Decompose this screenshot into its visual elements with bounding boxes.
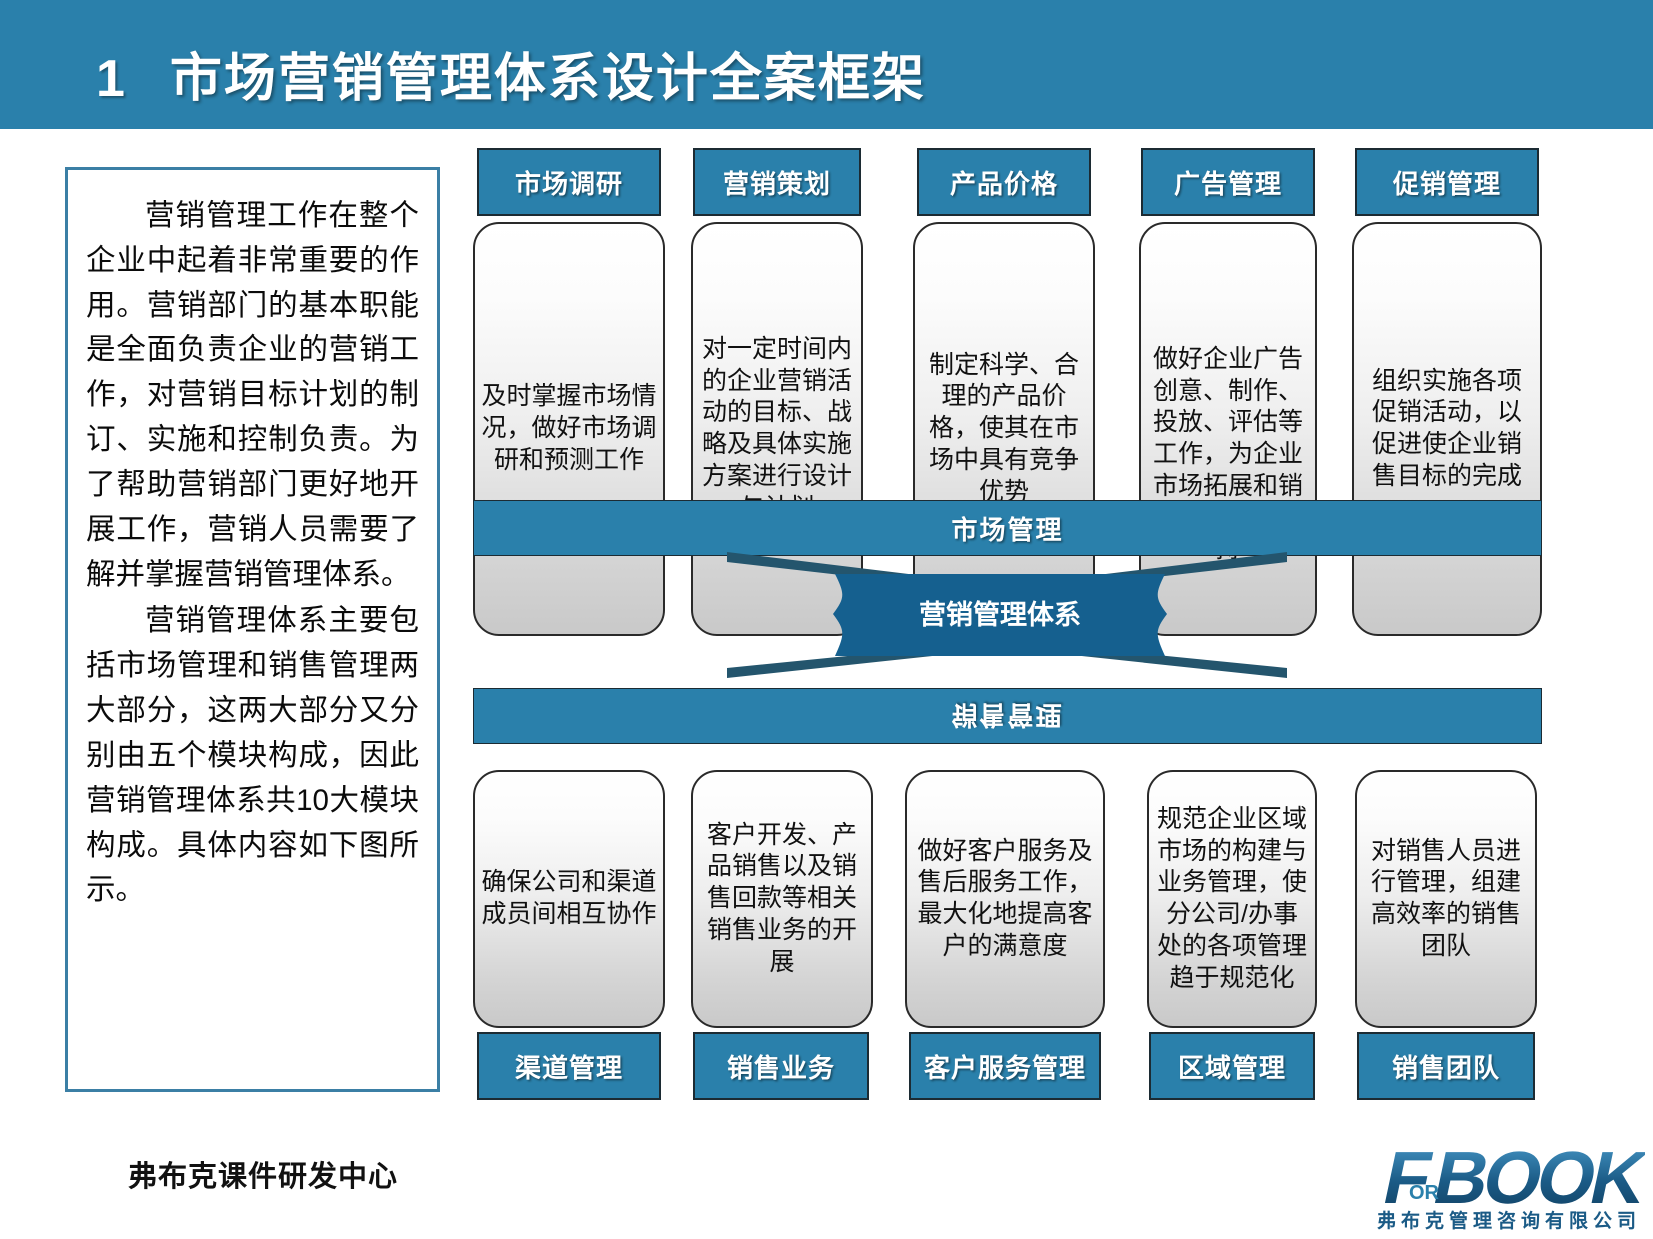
sales-module-card-1[interactable]: 客户开发、产品销售以及销售回款等相关销售业务的开展 bbox=[691, 770, 873, 1028]
market-management-label: 市场管理 bbox=[951, 510, 1063, 547]
intro-text-panel: 营销管理工作在整个企业中起着非常重要的作用。营销部门的基本职能是全面负责企业的营… bbox=[65, 167, 440, 1092]
logo-subtitle: 弗布克管理咨询有限公司 bbox=[1377, 1206, 1641, 1233]
sales-management-label: 销售管理 bbox=[951, 698, 1063, 735]
slide-canvas: 1 市场营销管理体系设计全案框架 营销管理工作在整个企业中起着非常重要的作用。营… bbox=[0, 0, 1653, 1239]
market-module-desc-4: 组织实施各项促销活动，以促进使企业销售目标的完成 bbox=[1354, 366, 1540, 493]
sales-module-desc-0: 确保公司和渠道成员间相互协作 bbox=[475, 867, 663, 931]
sales-module-chip-4[interactable]: 销售团队 bbox=[1357, 1032, 1535, 1100]
section-number: 1 bbox=[96, 49, 126, 109]
market-module-title-1: 营销策划 bbox=[723, 164, 831, 201]
sales-module-title-3: 区域管理 bbox=[1178, 1048, 1286, 1085]
slide-header-band: 1 市场营销管理体系设计全案框架 bbox=[0, 0, 1653, 129]
market-module-chip-1[interactable]: 营销策划 bbox=[693, 148, 861, 216]
market-module-desc-2: 制定科学、合理的产品价格，使其在市场中具有竞争优势 bbox=[915, 350, 1093, 509]
market-module-chip-4[interactable]: 促销管理 bbox=[1355, 148, 1539, 216]
sales-module-desc-4: 对销售人员进行管理，组建高效率的销售团队 bbox=[1357, 836, 1535, 963]
sales-management-band[interactable]: 销售管理 bbox=[473, 688, 1542, 744]
sales-module-chip-0[interactable]: 渠道管理 bbox=[477, 1032, 661, 1100]
footer-credit: 弗布克课件研发中心 bbox=[128, 1153, 398, 1195]
sales-module-card-3[interactable]: 规范企业区域市场的构建与业务管理，使分公司/办事处的各项管理趋于规范化 bbox=[1147, 770, 1317, 1028]
market-module-chip-0[interactable]: 市场调研 bbox=[477, 148, 661, 216]
framework-diagram: 及时掌握市场情况，做好市场调研和预测工作 对一定时间内的企业营销活动的目标、战略… bbox=[465, 148, 1550, 1113]
center-hub-label-text: 营销管理体系 bbox=[919, 600, 1081, 630]
market-module-title-2: 产品价格 bbox=[950, 164, 1058, 201]
sales-module-card-4[interactable]: 对销售人员进行管理，组建高效率的销售团队 bbox=[1355, 770, 1537, 1028]
sales-module-chip-1[interactable]: 销售业务 bbox=[693, 1032, 869, 1100]
sales-module-desc-1: 客户开发、产品销售以及销售回款等相关销售业务的开展 bbox=[693, 820, 871, 979]
market-module-title-3: 广告管理 bbox=[1174, 164, 1282, 201]
page-title: 市场营销管理体系设计全案框架 bbox=[170, 36, 926, 111]
intro-paragraph-1: 营销管理工作在整个企业中起着非常重要的作用。营销部门的基本职能是全面负责企业的营… bbox=[86, 194, 419, 597]
sales-module-desc-2: 做好客户服务及售后服务工作，最大化地提高客户的满意度 bbox=[907, 836, 1103, 963]
logo-or-text: OR bbox=[1409, 1182, 1440, 1204]
sales-module-title-0: 渠道管理 bbox=[515, 1048, 623, 1085]
sales-module-title-1: 销售业务 bbox=[727, 1048, 835, 1085]
sales-module-title-4: 销售团队 bbox=[1392, 1048, 1500, 1085]
sales-module-chip-3[interactable]: 区域管理 bbox=[1149, 1032, 1315, 1100]
market-module-desc-1: 对一定时间内的企业营销活动的目标、战略及具体实施方案进行设计与计划 bbox=[693, 334, 861, 525]
center-hub-svg: 营销管理体系 bbox=[465, 548, 1550, 696]
sales-module-title-2: 客户服务管理 bbox=[924, 1048, 1086, 1085]
market-module-chip-3[interactable]: 广告管理 bbox=[1141, 148, 1315, 216]
center-hub-group: 营销管理体系 bbox=[465, 548, 1550, 696]
market-module-chip-2[interactable]: 产品价格 bbox=[917, 148, 1091, 216]
market-module-desc-0: 及时掌握市场情况，做好市场调研和预测工作 bbox=[475, 381, 663, 476]
slide-header-inner: 1 市场营销管理体系设计全案框架 bbox=[96, 36, 926, 111]
intro-paragraph-2: 营销管理体系主要包括市场管理和销售管理两大部分，这两大部分又分别由五个模块构成，… bbox=[86, 599, 419, 913]
sales-module-card-2[interactable]: 做好客户服务及售后服务工作，最大化地提高客户的满意度 bbox=[905, 770, 1105, 1028]
market-module-title-0: 市场调研 bbox=[515, 164, 623, 201]
market-module-title-4: 促销管理 bbox=[1393, 164, 1501, 201]
sales-module-card-0[interactable]: 确保公司和渠道成员间相互协作 bbox=[473, 770, 665, 1028]
sales-module-desc-3: 规范企业区域市场的构建与业务管理，使分公司/办事处的各项管理趋于规范化 bbox=[1149, 804, 1315, 995]
sales-module-chip-2[interactable]: 客户服务管理 bbox=[909, 1032, 1101, 1100]
